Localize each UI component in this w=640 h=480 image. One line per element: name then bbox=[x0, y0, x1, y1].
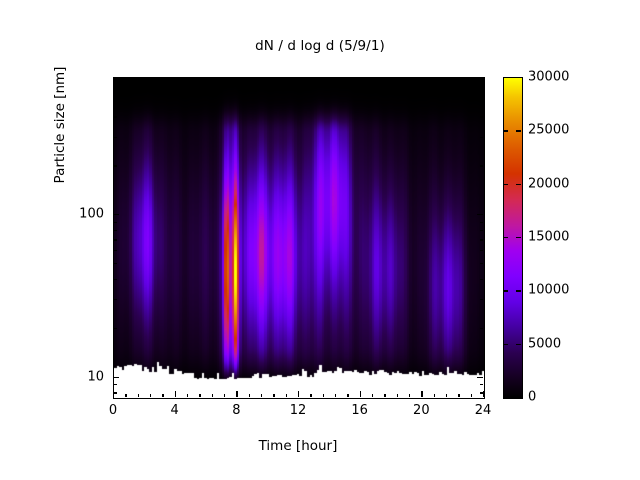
x-major-tick bbox=[483, 391, 484, 397]
colorbar-tick bbox=[516, 290, 521, 291]
y-minor-tick-right bbox=[480, 222, 484, 223]
colorbar-tick bbox=[503, 237, 508, 238]
x-minor-tick-top bbox=[125, 77, 126, 81]
x-minor-tick bbox=[471, 394, 472, 398]
figure-root: dN / d log d (5/9/1) 0481216202410100 Ti… bbox=[0, 0, 640, 480]
y-minor-tick-right bbox=[480, 279, 484, 280]
y-major-tick-right bbox=[477, 214, 483, 215]
colorbar-tick-label: 25000 bbox=[528, 123, 569, 138]
y-minor-tick bbox=[113, 279, 117, 280]
y-minor-tick-right bbox=[480, 384, 484, 385]
y-minor-tick-right bbox=[480, 101, 484, 102]
x-minor-tick-top bbox=[138, 77, 139, 81]
x-minor-tick bbox=[446, 394, 447, 398]
x-minor-tick-top bbox=[409, 77, 410, 81]
x-minor-tick bbox=[286, 394, 287, 398]
y-minor-tick-right bbox=[480, 88, 484, 89]
x-major-tick-top bbox=[298, 77, 299, 83]
x-minor-tick bbox=[434, 394, 435, 398]
y-minor-tick bbox=[113, 165, 117, 166]
y-minor-tick-right bbox=[480, 263, 484, 264]
colorbar-tick bbox=[516, 184, 521, 185]
x-minor-tick bbox=[458, 394, 459, 398]
x-minor-tick bbox=[224, 394, 225, 398]
colorbar-tick-label: 15000 bbox=[528, 230, 569, 245]
colorbar-tick bbox=[503, 130, 508, 131]
y-minor-tick bbox=[113, 88, 117, 89]
y-tick-label: 10 bbox=[58, 369, 104, 384]
x-minor-tick-top bbox=[471, 77, 472, 81]
x-minor-tick-top bbox=[162, 77, 163, 81]
x-minor-tick bbox=[125, 394, 126, 398]
x-minor-tick-top bbox=[458, 77, 459, 81]
x-minor-tick-top bbox=[187, 77, 188, 81]
y-minor-tick bbox=[113, 299, 117, 300]
x-minor-tick bbox=[323, 394, 324, 398]
x-minor-tick bbox=[199, 394, 200, 398]
x-tick-label: 16 bbox=[351, 403, 368, 418]
x-major-tick bbox=[175, 391, 176, 397]
x-minor-tick-top bbox=[261, 77, 262, 81]
x-minor-tick-top bbox=[150, 77, 151, 81]
colorbar-tick bbox=[503, 344, 508, 345]
y-minor-tick bbox=[113, 116, 117, 117]
x-tick-label: 4 bbox=[171, 403, 179, 418]
y-major-tick bbox=[113, 377, 119, 378]
x-minor-tick bbox=[249, 394, 250, 398]
heatmap-canvas bbox=[114, 78, 484, 398]
x-major-tick-top bbox=[421, 77, 422, 83]
x-tick-label: 24 bbox=[475, 403, 492, 418]
x-major-tick bbox=[421, 391, 422, 397]
x-minor-tick bbox=[187, 394, 188, 398]
y-minor-tick-right bbox=[480, 239, 484, 240]
x-minor-tick bbox=[409, 394, 410, 398]
x-tick-label: 8 bbox=[232, 403, 240, 418]
x-minor-tick-top bbox=[335, 77, 336, 81]
y-minor-tick-right bbox=[480, 392, 484, 393]
x-minor-tick-top bbox=[310, 77, 311, 81]
x-major-tick bbox=[360, 391, 361, 397]
colorbar-tick bbox=[503, 184, 508, 185]
colorbar-tick-label: 10000 bbox=[528, 283, 569, 298]
heatmap-plot-area bbox=[113, 77, 485, 399]
y-axis-label: Particle size [nm] bbox=[52, 5, 68, 245]
x-axis-label: Time [hour] bbox=[113, 438, 483, 454]
x-minor-tick bbox=[310, 394, 311, 398]
x-minor-tick bbox=[162, 394, 163, 398]
colorbar-tick bbox=[516, 237, 521, 238]
x-minor-tick bbox=[384, 394, 385, 398]
y-minor-tick bbox=[113, 77, 117, 78]
x-tick-label: 20 bbox=[413, 403, 430, 418]
y-major-tick-right bbox=[477, 377, 483, 378]
y-minor-tick-right bbox=[480, 328, 484, 329]
y-minor-tick-right bbox=[480, 299, 484, 300]
y-minor-tick bbox=[113, 384, 117, 385]
x-minor-tick-top bbox=[372, 77, 373, 81]
x-minor-tick-top bbox=[273, 77, 274, 81]
y-minor-tick bbox=[113, 230, 117, 231]
x-major-tick bbox=[298, 391, 299, 397]
colorbar-tick bbox=[516, 130, 521, 131]
x-tick-label: 12 bbox=[290, 403, 307, 418]
colorbar-tick-label: 20000 bbox=[528, 176, 569, 191]
x-minor-tick bbox=[138, 394, 139, 398]
x-minor-tick-top bbox=[347, 77, 348, 81]
x-minor-tick bbox=[261, 394, 262, 398]
y-minor-tick-right bbox=[480, 230, 484, 231]
colorbar-tick bbox=[516, 344, 521, 345]
y-minor-tick bbox=[113, 239, 117, 240]
x-minor-tick-top bbox=[323, 77, 324, 81]
x-minor-tick-top bbox=[446, 77, 447, 81]
x-minor-tick-top bbox=[224, 77, 225, 81]
y-minor-tick-right bbox=[480, 250, 484, 251]
y-minor-tick-right bbox=[480, 165, 484, 166]
x-minor-tick bbox=[150, 394, 151, 398]
y-minor-tick bbox=[113, 222, 117, 223]
colorbar-tick bbox=[503, 290, 508, 291]
x-minor-tick bbox=[335, 394, 336, 398]
x-minor-tick bbox=[372, 394, 373, 398]
x-major-tick-top bbox=[175, 77, 176, 83]
x-minor-tick-top bbox=[199, 77, 200, 81]
x-major-tick-top bbox=[360, 77, 361, 83]
x-minor-tick bbox=[212, 394, 213, 398]
x-major-tick-top bbox=[236, 77, 237, 83]
x-minor-tick-top bbox=[286, 77, 287, 81]
x-major-tick-top bbox=[483, 77, 484, 83]
x-minor-tick bbox=[397, 394, 398, 398]
x-minor-tick-top bbox=[434, 77, 435, 81]
y-minor-tick bbox=[113, 137, 117, 138]
y-minor-tick bbox=[113, 250, 117, 251]
x-minor-tick bbox=[347, 394, 348, 398]
y-minor-tick bbox=[113, 328, 117, 329]
y-minor-tick-right bbox=[480, 137, 484, 138]
x-tick-label: 0 bbox=[109, 403, 117, 418]
x-minor-tick-top bbox=[397, 77, 398, 81]
colorbar-tick-label: 5000 bbox=[528, 336, 561, 351]
x-minor-tick-top bbox=[384, 77, 385, 81]
y-major-tick bbox=[113, 214, 119, 215]
y-minor-tick-right bbox=[480, 77, 484, 78]
colorbar-tick-label: 0 bbox=[528, 390, 536, 405]
x-minor-tick-top bbox=[249, 77, 250, 81]
page-title: dN / d log d (5/9/1) bbox=[0, 38, 640, 54]
x-major-tick bbox=[236, 391, 237, 397]
x-minor-tick bbox=[273, 394, 274, 398]
y-minor-tick bbox=[113, 392, 117, 393]
y-minor-tick bbox=[113, 263, 117, 264]
colorbar-tick-label: 30000 bbox=[528, 70, 569, 85]
y-minor-tick-right bbox=[480, 116, 484, 117]
y-minor-tick bbox=[113, 101, 117, 102]
x-minor-tick-top bbox=[212, 77, 213, 81]
